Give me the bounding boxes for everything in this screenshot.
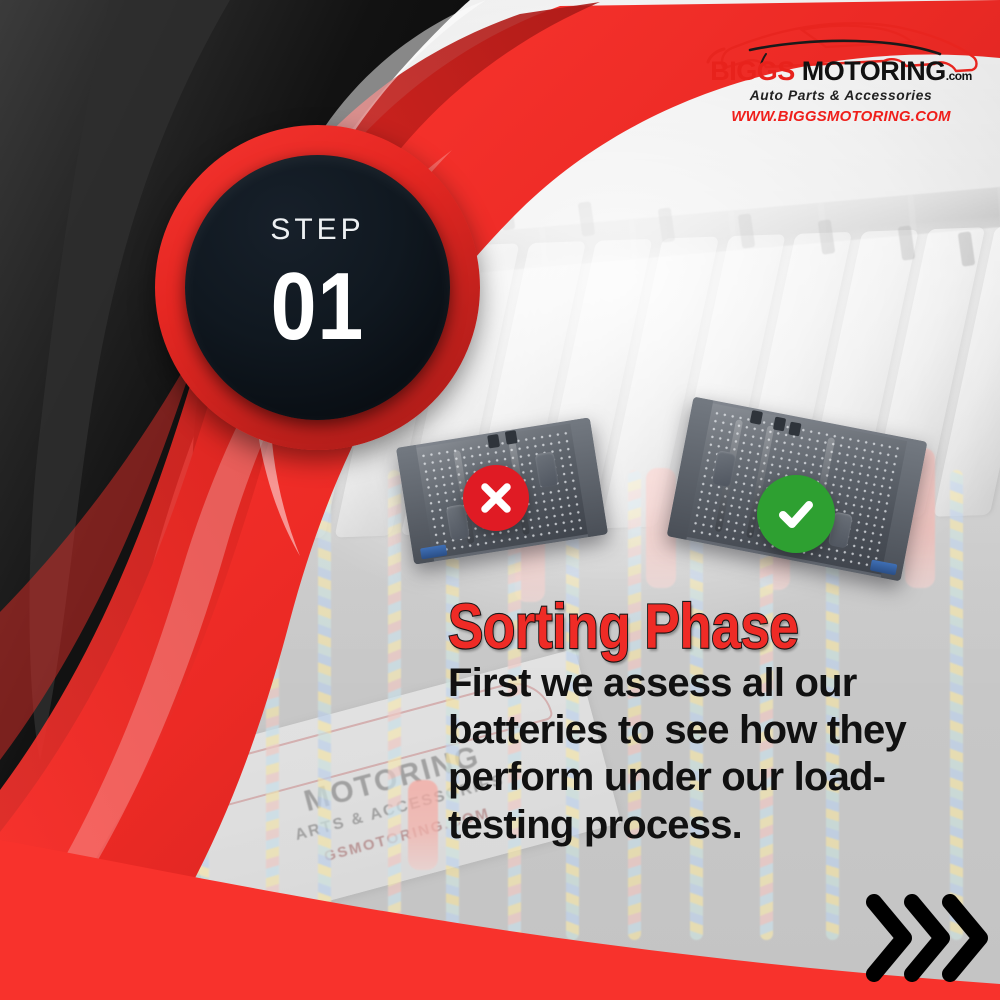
poster-canvas: MOTORING ARTS & ACCESSORIES GSMOTORING.C…	[0, 0, 1000, 1000]
logo-brand-second: MOTORING	[802, 56, 946, 86]
step-badge-inner: STEP 01	[185, 155, 450, 420]
step-badge: STEP 01	[155, 125, 480, 450]
body-copy: First we assess all our batteries to see…	[448, 660, 916, 849]
headline: Sorting Phase	[448, 596, 798, 659]
check-mark-icon	[773, 491, 819, 537]
approved-status-badge	[757, 475, 835, 553]
double-chevron-right-icon	[860, 888, 990, 988]
x-mark-icon	[478, 480, 514, 516]
logo-brand-first: BIGGS	[710, 56, 795, 86]
logo-brand-suffix: .com	[946, 69, 972, 83]
logo-brand-text: BIGGS MOTORING.com	[700, 58, 982, 85]
logo-tagline: Auto Parts & Accessories	[697, 88, 985, 103]
logo-website: WWW.BIGGSMOTORING.COM	[700, 108, 982, 125]
step-label: STEP	[270, 215, 364, 245]
rejected-status-badge	[463, 465, 529, 531]
brand-logo[interactable]: BIGGS MOTORING.com Auto Parts & Accessor…	[700, 18, 982, 118]
step-number: 01	[271, 259, 365, 355]
